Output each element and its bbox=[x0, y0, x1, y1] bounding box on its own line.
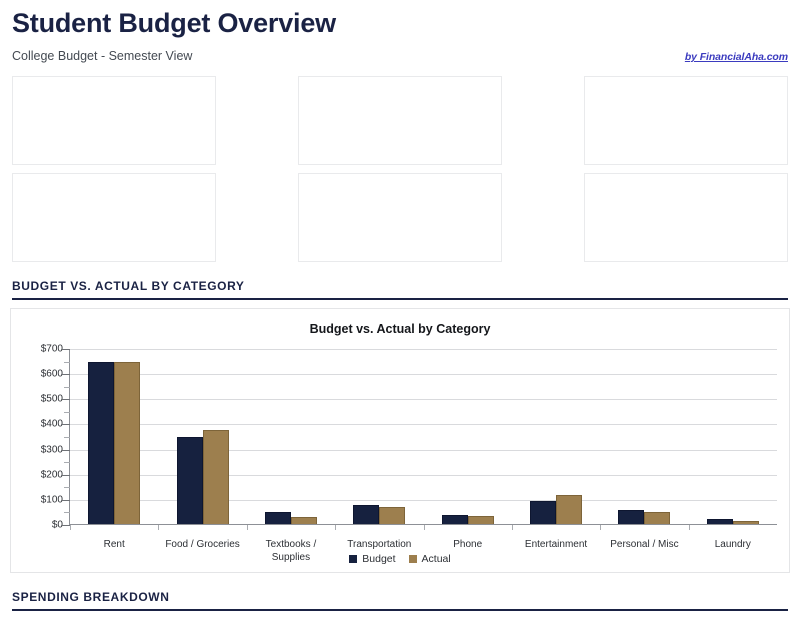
subtitle-row: College Budget - Semester View by Financ… bbox=[10, 39, 790, 63]
bar-actual[interactable] bbox=[203, 430, 229, 526]
y-axis-minor-tick bbox=[64, 412, 70, 413]
bar-group[interactable] bbox=[512, 349, 600, 525]
dashboard-page: Student Budget Overview College Budget -… bbox=[0, 0, 800, 622]
y-axis-tick-label: $500 bbox=[41, 394, 63, 405]
y-axis-major-tick bbox=[61, 500, 70, 501]
chart-legend: BudgetActual bbox=[11, 553, 789, 565]
legend-label: Actual bbox=[422, 553, 451, 565]
y-axis-major-tick bbox=[61, 374, 70, 375]
y-axis-tick-label: $400 bbox=[41, 419, 63, 430]
section-title: SPENDING BREAKDOWN bbox=[12, 590, 788, 604]
bar-actual[interactable] bbox=[556, 495, 582, 525]
bar-budget[interactable] bbox=[88, 362, 114, 525]
legend-item[interactable]: Actual bbox=[409, 553, 451, 565]
bar-budget[interactable] bbox=[177, 437, 203, 525]
chart-panel: Budget vs. Actual by Category $0$100$200… bbox=[10, 308, 790, 573]
legend-swatch-icon bbox=[409, 555, 417, 563]
bar-group[interactable] bbox=[158, 349, 246, 525]
bar-group[interactable] bbox=[600, 349, 688, 525]
legend-item[interactable]: Budget bbox=[349, 553, 395, 565]
y-axis: $0$100$200$300$400$500$600$700 bbox=[23, 349, 69, 525]
y-axis-minor-tick bbox=[64, 387, 70, 388]
y-axis-tick-label: $600 bbox=[41, 369, 63, 380]
bar-group[interactable] bbox=[247, 349, 335, 525]
y-axis-major-tick bbox=[61, 399, 70, 400]
plot-canvas bbox=[70, 349, 777, 525]
legend-swatch-icon bbox=[349, 555, 357, 563]
kpi-card-grid bbox=[10, 63, 790, 262]
bar-group[interactable] bbox=[424, 349, 512, 525]
section-spending-breakdown: SPENDING BREAKDOWN bbox=[12, 590, 788, 611]
y-axis-tick-label: $300 bbox=[41, 444, 63, 455]
y-axis-major-tick bbox=[61, 475, 70, 476]
bar-group[interactable] bbox=[689, 349, 777, 525]
x-axis-line bbox=[70, 524, 777, 525]
y-axis-major-tick bbox=[61, 525, 70, 526]
y-axis-minor-tick bbox=[64, 512, 70, 513]
bar-actual[interactable] bbox=[379, 507, 405, 525]
bar-group[interactable] bbox=[70, 349, 158, 525]
bar-budget[interactable] bbox=[530, 501, 556, 525]
section-budget-vs-actual: BUDGET VS. ACTUAL BY CATEGORY bbox=[12, 279, 788, 300]
page-subtitle: College Budget - Semester View bbox=[12, 49, 192, 63]
kpi-card bbox=[298, 76, 502, 165]
legend-label: Budget bbox=[362, 553, 395, 565]
kpi-card bbox=[12, 173, 216, 262]
section-title: BUDGET VS. ACTUAL BY CATEGORY bbox=[12, 279, 788, 293]
y-axis-major-tick bbox=[61, 450, 70, 451]
y-axis-tick-label: $100 bbox=[41, 494, 63, 505]
chart-title: Budget vs. Actual by Category bbox=[23, 319, 777, 336]
page-title: Student Budget Overview bbox=[10, 0, 790, 39]
kpi-card bbox=[298, 173, 502, 262]
y-axis-major-tick bbox=[61, 349, 70, 350]
y-axis-minor-tick bbox=[64, 362, 70, 363]
y-axis-tick-label: $200 bbox=[41, 469, 63, 480]
plot-area: $0$100$200$300$400$500$600$700 RentFood … bbox=[23, 349, 777, 525]
kpi-card bbox=[584, 76, 788, 165]
bar-budget[interactable] bbox=[618, 510, 644, 525]
kpi-card bbox=[12, 76, 216, 165]
bar-actual[interactable] bbox=[114, 362, 140, 525]
y-axis-minor-tick bbox=[64, 487, 70, 488]
kpi-card bbox=[584, 173, 788, 262]
bar-group[interactable] bbox=[335, 349, 423, 525]
bar-budget[interactable] bbox=[353, 505, 379, 525]
y-axis-tick-label: $700 bbox=[41, 344, 63, 355]
y-axis-minor-tick bbox=[64, 462, 70, 463]
y-axis-major-tick bbox=[61, 424, 70, 425]
attribution-link[interactable]: by FinancialAha.com bbox=[685, 51, 788, 63]
bar-groups bbox=[70, 349, 777, 525]
y-axis-minor-tick bbox=[64, 437, 70, 438]
